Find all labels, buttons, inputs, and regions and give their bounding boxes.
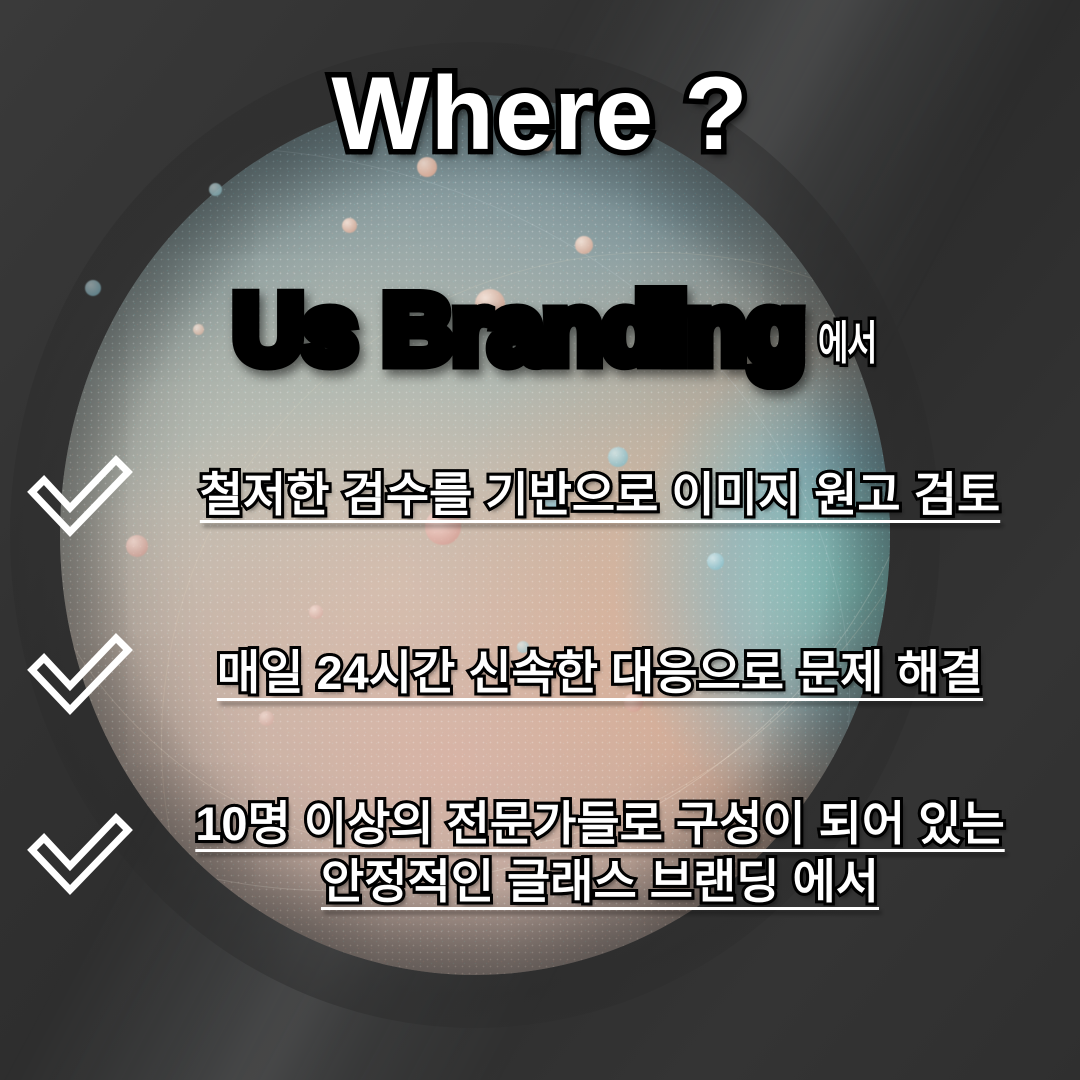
list-item-line: 10명 이상의 전문가들로 구성이 되어 있는	[160, 795, 1040, 852]
brand-suffix-particle: 에서	[818, 320, 876, 366]
check-icon	[0, 810, 160, 896]
page-title: Where ?	[0, 62, 1080, 166]
list-item-text: 10명 이상의 전문가들로 구성이 되어 있는 안정적인 글래스 브랜딩 에서	[160, 795, 1080, 910]
check-icon	[0, 452, 160, 538]
list-item-line: 철저한 검수를 기반으로 이미지 원고 검토	[160, 466, 1040, 523]
list-item: 철저한 검수를 기반으로 이미지 원고 검토	[0, 440, 1080, 550]
list-item-line: 매일 24시간 신속한 대응으로 문제 해결	[160, 644, 1040, 701]
list-item: 매일 24시간 신속한 대응으로 문제 해결	[0, 618, 1080, 728]
list-item-text: 매일 24시간 신속한 대응으로 문제 해결	[160, 644, 1080, 701]
list-item-text: 철저한 검수를 기반으로 이미지 원고 검토	[160, 466, 1080, 523]
list-item-line: 안정적인 글래스 브랜딩 에서	[160, 853, 1040, 910]
check-icon	[0, 630, 160, 716]
brand-name: Us Branding	[233, 280, 805, 378]
brand-headline: Us Branding 에서	[0, 280, 1080, 378]
poster-canvas: Where ? Us Branding 에서 철저한 검수를 기반으로 이미지 …	[0, 0, 1080, 1080]
list-item: 10명 이상의 전문가들로 구성이 되어 있는 안정적인 글래스 브랜딩 에서	[0, 780, 1080, 925]
